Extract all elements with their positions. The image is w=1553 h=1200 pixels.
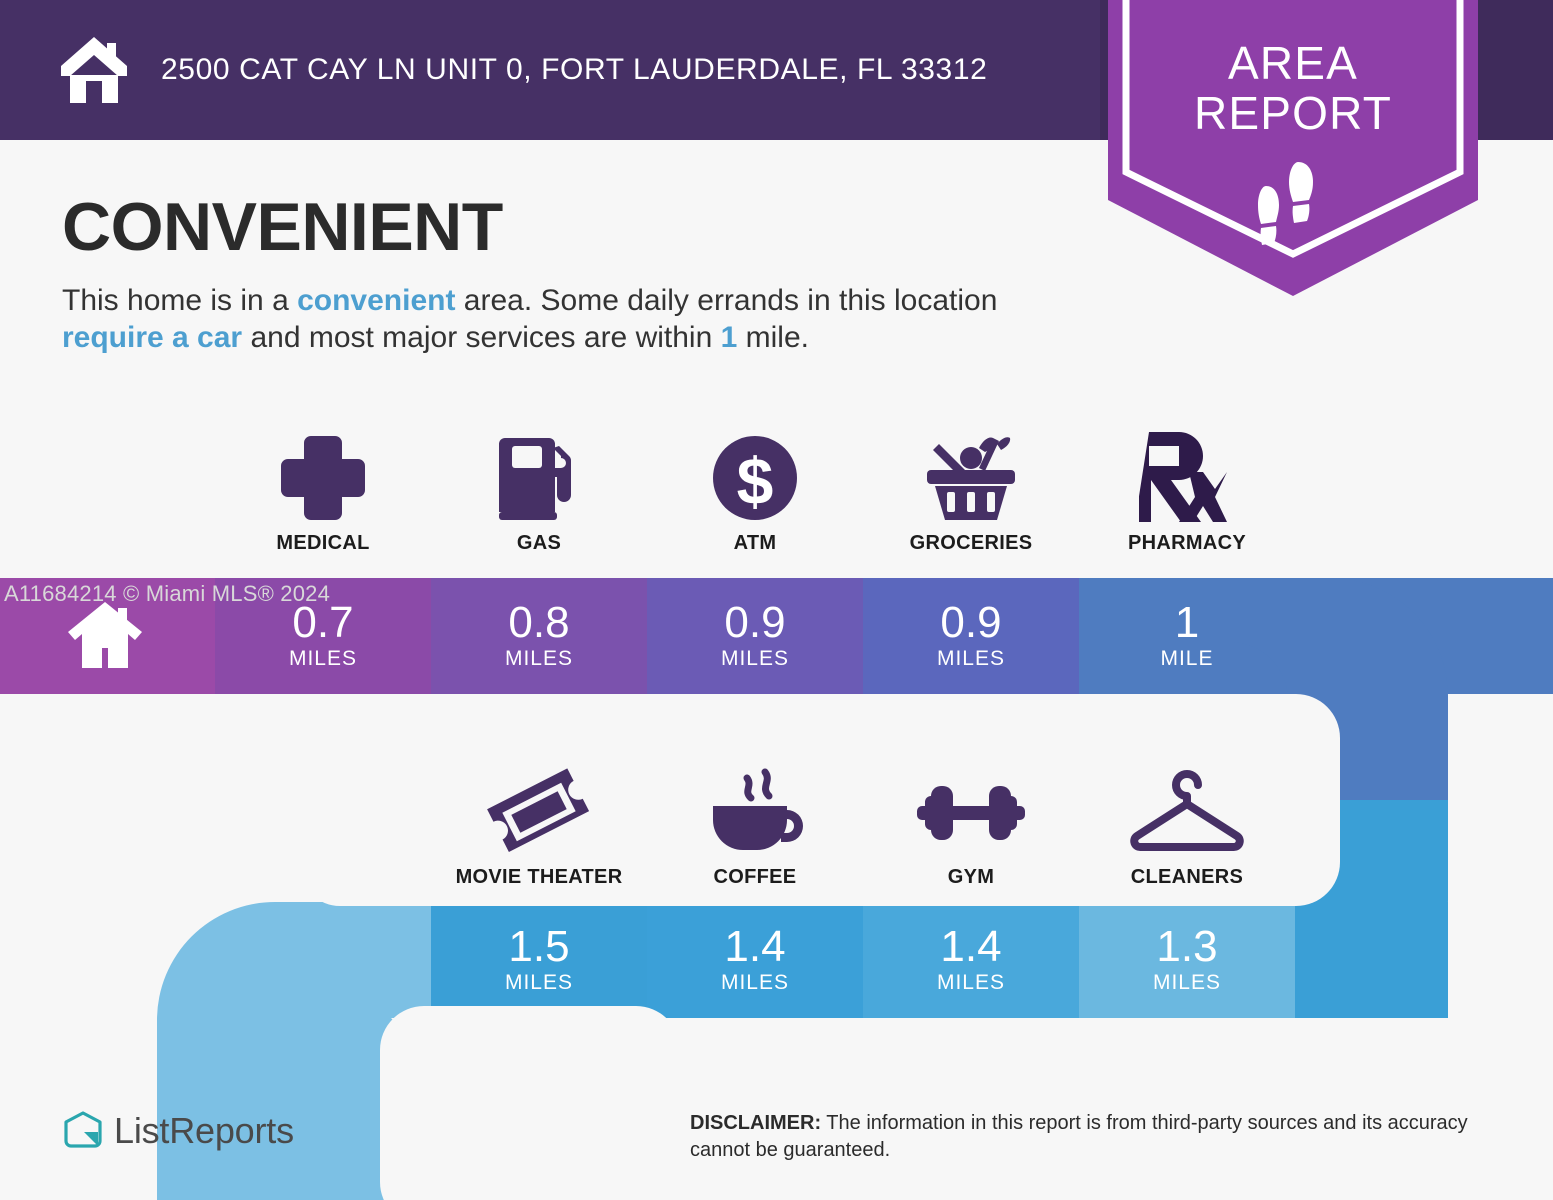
- poi-gas: GAS: [431, 418, 647, 555]
- medical-cross-icon: [215, 418, 431, 526]
- poi-label: MOVIE THEATER: [431, 866, 647, 889]
- distance-groceries: 0.9 MILES: [863, 578, 1079, 694]
- distance-value: 0.8: [508, 601, 569, 645]
- pharmacy-rx-icon: [1079, 418, 1295, 526]
- disclaimer-label: DISCLAIMER:: [690, 1112, 821, 1134]
- home-marker-icon: [62, 598, 148, 672]
- distance-value: 0.9: [724, 601, 785, 645]
- coffee-cup-icon: [647, 752, 863, 860]
- poi-label: CLEANERS: [1079, 866, 1295, 889]
- distance-movie-theater: 1.5 MILES: [431, 902, 647, 1018]
- distance-value: 1.5: [508, 925, 569, 969]
- movie-ticket-icon: [431, 752, 647, 860]
- poi-label: ATM: [647, 532, 863, 555]
- distance-coffee: 1.4 MILES: [647, 902, 863, 1018]
- poi-pharmacy: PHARMACY: [1079, 418, 1295, 555]
- mls-watermark: A11684214 © Miami MLS® 2024: [4, 581, 330, 607]
- badge-line-2: REPORT: [1108, 88, 1478, 138]
- badge-title: AREA REPORT: [1108, 38, 1478, 138]
- distance-unit: MILES: [721, 971, 789, 995]
- poi-label: PHARMACY: [1079, 532, 1295, 555]
- dumbbell-icon: [863, 752, 1079, 860]
- distance-unit: MILE: [1160, 647, 1213, 671]
- gas-pump-icon: [431, 418, 647, 526]
- poi-gym: GYM: [863, 752, 1079, 889]
- disclaimer: DISCLAIMER: The information in this repo…: [690, 1110, 1500, 1164]
- distance-value: 0.9: [940, 601, 1001, 645]
- poi-coffee: COFFEE: [647, 752, 863, 889]
- distance-cleaners: 1.3 MILES: [1079, 902, 1295, 1018]
- distance-value: 0.7: [292, 601, 353, 645]
- poi-label: MEDICAL: [215, 532, 431, 555]
- poi-label: COFFEE: [647, 866, 863, 889]
- distance-gas: 0.8 MILES: [431, 578, 647, 694]
- distance-gym: 1.4 MILES: [863, 902, 1079, 1018]
- distance-unit: MILES: [937, 971, 1005, 995]
- poi-medical: MEDICAL: [215, 418, 431, 555]
- distance-value: 1.4: [724, 925, 785, 969]
- listreports-wordmark: ListReports: [114, 1110, 294, 1152]
- poi-label: GROCERIES: [863, 532, 1079, 555]
- poi-atm: $ ATM: [647, 418, 863, 555]
- footprints-icon: [1248, 160, 1338, 248]
- badge-line-1: AREA: [1108, 38, 1478, 88]
- ribbon-notch-left: [380, 1006, 680, 1200]
- grocery-basket-icon: [863, 418, 1079, 526]
- svg-text:$: $: [737, 444, 774, 518]
- atm-dollar-icon: $: [647, 418, 863, 526]
- distance-unit: MILES: [505, 647, 573, 671]
- distance-unit: MILES: [1153, 971, 1221, 995]
- poi-label: GAS: [431, 532, 647, 555]
- row2-icons: MOVIE THEATER COFFEE: [0, 752, 1553, 902]
- distance-unit: MILES: [505, 971, 573, 995]
- distance-value: 1.3: [1156, 925, 1217, 969]
- listreports-house-icon: [62, 1110, 104, 1152]
- distance-atm: 0.9 MILES: [647, 578, 863, 694]
- hanger-icon: [1079, 752, 1295, 860]
- poi-label: GYM: [863, 866, 1079, 889]
- listreports-logo: ListReports: [62, 1110, 294, 1152]
- poi-cleaners: CLEANERS: [1079, 752, 1295, 889]
- area-report-page: 2500 CAT CAY LN UNIT 0, FORT LAUDERDALE,…: [0, 0, 1553, 1200]
- distance-pharmacy: 1 MILE: [1079, 578, 1295, 694]
- poi-groceries: GROCERIES: [863, 418, 1079, 555]
- row1-icons: MEDICAL GAS $: [0, 418, 1553, 568]
- distance-value: 1: [1175, 601, 1199, 645]
- distance-unit: MILES: [937, 647, 1005, 671]
- poi-movie-theater: MOVIE THEATER: [431, 752, 647, 889]
- distance-value: 1.4: [940, 925, 1001, 969]
- distance-unit: MILES: [721, 647, 789, 671]
- distance-unit: MILES: [289, 647, 357, 671]
